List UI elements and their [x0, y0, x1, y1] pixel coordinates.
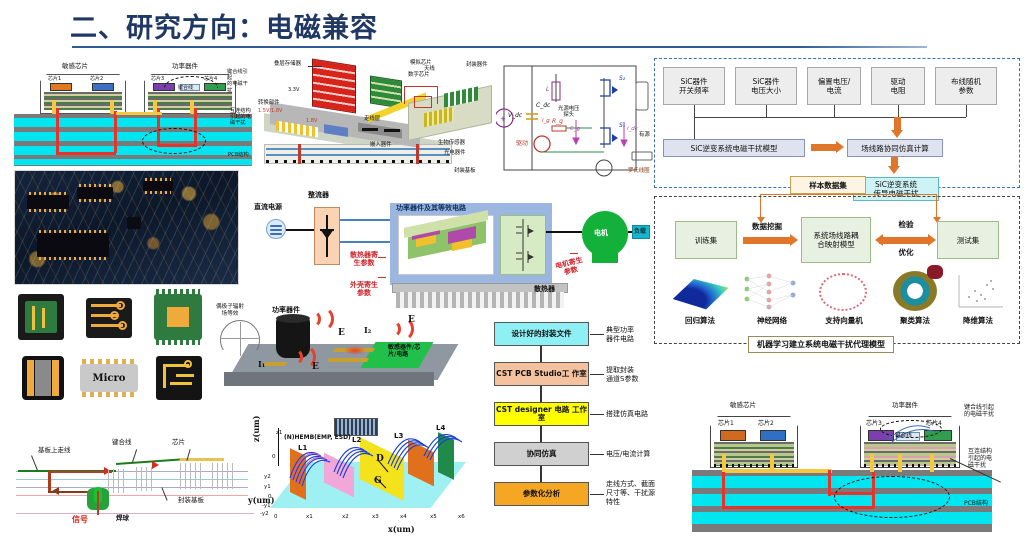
cst-note-1: 提取封装 通道S参数 [606, 366, 638, 384]
sip-label-package-substrate: 封装基板 [454, 168, 476, 174]
schem-label-voltage-probe: 光源电压 探头 [558, 106, 580, 119]
xsec-br-label-interconnect-emi: 互连结构 引起的电 磁干扰 [968, 448, 992, 470]
power-label-heatsink-parasitic: 散热器寄 生参数 [350, 251, 378, 268]
bondwire-label-solder-ball: 焊球 [116, 515, 129, 523]
cst-arrow-3 [540, 466, 542, 482]
emi-dataset-box[interactable]: 样本数据集 [790, 176, 866, 194]
ml-mapping-model[interactable]: 系统场线路耦 合映射模型 [801, 217, 871, 263]
cst-lead-2 [590, 414, 604, 415]
bondwire-label-chip: 芯片 [172, 439, 185, 447]
cst-arrow-2 [540, 426, 542, 442]
radiation-label-dipole: 偶极子辐射 场等效 [216, 304, 244, 317]
sip-label-passive: 封装器件 [466, 62, 488, 68]
plot3d-xtick-0: 0 [274, 514, 278, 521]
cst-lead-1 [590, 374, 604, 375]
emi-arrow-down-result [891, 157, 898, 167]
power-label-motor-parasitic: 电机寄生 参数 [554, 256, 585, 279]
ml-arrow-right-label-bottom: 优化 [883, 247, 929, 258]
cst-step-4[interactable]: 参数化分析 [494, 482, 589, 506]
ml-arrow-right-label-top: 检验 [883, 219, 929, 230]
plot3d-xtick-x1: x1 [306, 514, 313, 521]
ml-algo-label-1: 神经网络 [737, 315, 807, 326]
cst-note-2: 搭建仿真电路 [606, 410, 648, 419]
emi-input-3[interactable]: 驱动 电阻 [871, 67, 925, 105]
plot3d-loop-L1: L1 [298, 444, 307, 452]
xsec-top-label-sensitive-chip: 敏感芯片 [62, 63, 88, 71]
power-label-motor: 电机 [594, 229, 608, 237]
neural-network-thumbnail-icon [739, 271, 805, 311]
clustering-blob-icon [927, 265, 943, 279]
xsec-top-label-chip4: 芯片4 [204, 76, 217, 82]
ml-algo-label-2: 支持向量机 [809, 315, 879, 326]
plot3d-ytick-0: 0 [268, 494, 272, 501]
plot3d-ztick-0: 0 [272, 454, 276, 461]
emi-input-0[interactable]: SiC器件 开关频率 [663, 67, 725, 105]
xsec-top-label-power-device: 功率器件 [172, 63, 198, 71]
top-left-cross-section: 敏感芯片 功率器件 芯片1 芯片2 芯片3 芯片4 键合线 键合线引起 的电磁干… [14, 56, 252, 166]
ml-test-set[interactable]: 测试集 [937, 221, 999, 259]
radiation-label-e3: E [408, 315, 415, 326]
schem-label-drive: 驱动 [516, 140, 528, 147]
sip-label-converter: 转换部件 [258, 100, 280, 106]
emi-bus-line [694, 117, 966, 118]
sip-label-substrate-trace: 走线层 [364, 116, 380, 122]
chip-dip-icon [22, 356, 64, 400]
emi-cosim-box[interactable]: 场线路协同仿真计算 [847, 139, 943, 157]
power-label-power-module: 功率器件及其等效电路 [396, 204, 466, 212]
ml-algo-label-4: 降维算法 [945, 315, 1011, 326]
cst-step-3[interactable]: 协同仿真 [494, 442, 589, 466]
plot3d-xtick-x6: x6 [458, 514, 465, 521]
radiation-label-victim: 敏感器件/芯 片/电路 [388, 344, 420, 358]
cst-step-1[interactable]: CST PCB Studio工 作室 [494, 362, 589, 386]
wirebond-3d-plot: z(um) y(um) x(um) (N)HEMB(EMP, ESD) L1 L… [248, 420, 493, 536]
cst-note-0: 典型功率 器件电路 [606, 326, 634, 344]
sip-label-digital: 数字芯片 [408, 72, 430, 78]
cst-arrow-1 [540, 386, 542, 402]
schem-label-ig: i_g [542, 118, 550, 125]
radiation-label-e2: E [312, 362, 319, 373]
emi-arrow-down-cosim [894, 117, 901, 131]
sip-label-optical: 光电器件 [444, 150, 466, 156]
micro-chip-label: Micro [93, 373, 126, 384]
power-label-heatsink: 散热器 [534, 285, 555, 293]
plot3d-ytick-ny1: -y1 [262, 503, 271, 510]
cst-note-4: 走线方式、截面 尺寸等、干扰源 特性 [606, 480, 655, 506]
xsec-br-label-chip3: 芯片3 [866, 420, 882, 427]
chip-pcb-trace-icon [86, 298, 132, 338]
xsec-top-label-pcb-structure: PCB结构 [228, 152, 249, 158]
plot3d-xtick-x5: x5 [430, 514, 437, 521]
plot3d-port-D: D [376, 454, 384, 465]
emi-input-4[interactable]: 布线随机 参数 [935, 67, 997, 105]
chip-qfp-icon [18, 294, 64, 340]
ml-flow-caption: 机器学习建立系统电磁干扰代理模型 [748, 336, 894, 353]
xsec-top-label-chip2: 芯片2 [90, 76, 103, 82]
plot3d-xtick-x2: x2 [342, 514, 349, 521]
xsec-top-label-interconnect-emi: 互连结构 引起的电 磁干扰 [230, 108, 251, 127]
schem-label-vdc: V_dc [508, 112, 522, 119]
svg-text:+: + [500, 115, 506, 123]
emi-model-flowchart: SiC器件 开关频率 SiC器件 电压大小 偏置电压/ 电流 驱动 电阻 布线随… [654, 58, 1020, 188]
plot3d-loop-L4: L4 [436, 424, 445, 432]
schem-label-rogowski: 罗氏线圈 [628, 168, 650, 174]
bondwire-label-signal: 信号 [72, 515, 88, 525]
schem-label-cdc: C_dc [536, 102, 550, 109]
power-label-load: 负载 [634, 228, 646, 235]
bottom-right-cross-section: 敏感芯片 功率器件 芯片1 芯片2 芯片3 芯片4 键合线 键合线引起 的电磁干… [692, 392, 1022, 534]
schem-label-s1: S₁ [619, 122, 625, 129]
bondwire-label-bond-wire: 键合线 [112, 439, 132, 447]
xsec-br-label-power-device: 功率器件 [892, 402, 918, 410]
emi-arrow-model-to-cosim [811, 144, 837, 151]
sip-label-v3: 1.8V [306, 118, 317, 124]
page-title: 二、研究方向：电磁兼容 [70, 6, 378, 45]
sip-label-memory: 叠层存储器 [274, 61, 301, 67]
chip-icon-grid: Micro [14, 290, 214, 410]
plot3d-axis-z: z(um) [252, 416, 262, 442]
plot3d-xtick-x3: x3 [372, 514, 379, 521]
sip-label-v2: 1.5V/1.8V [258, 108, 282, 114]
bondwire-label-substrate-trace: 基板上走线 [38, 447, 71, 455]
sip-label-embedded: 嵌入器件 [370, 142, 392, 148]
plot3d-ytick-ny2: -y2 [260, 511, 269, 518]
sip-label-antenna: 天线 [424, 66, 435, 72]
power-label-shell-parasitic: 外壳寄生 参数 [350, 281, 378, 298]
sip-package-3d-diagram: 叠层存储器 模拟芯片 数字芯片 天线 封装器件 转换部件 1.5V/1.8V 3… [258, 56, 496, 184]
inverter-schematic: + [496, 56, 656, 186]
plot3d-axis-x: x(um) [388, 525, 415, 535]
ml-arrow-model-to-test [879, 237, 929, 244]
cst-lead-4 [590, 494, 604, 495]
chip-micro-icon: Micro [80, 364, 138, 392]
xsec-br-label-sensitive-chip: 敏感芯片 [730, 402, 756, 410]
dimreduction-thumbnail-icon [955, 273, 1005, 311]
plot3d-xtick-x4: x4 [400, 514, 407, 521]
radiation-label-i2: I₂ [364, 326, 371, 336]
chip-routing-icon [156, 356, 202, 400]
power-label-dc-source: 直流电源 [254, 203, 282, 211]
schem-label-load: 有源 [639, 132, 650, 138]
svm-thumbnail-icon [819, 273, 867, 311]
pcb-photo [14, 170, 239, 285]
radiation-coupling-diagram: 偶极子辐射 场等效 功率器件 敏感器件/芯 片/电路 E E E I₁ I₂ [216, 300, 486, 420]
schem-label-s2: S₂ [619, 75, 625, 82]
slide-root: 二、研究方向：电磁兼容 敏感芯片 [0, 0, 1024, 536]
plot3d-ytick-y1: y1 [264, 484, 271, 491]
cst-step-2[interactable]: CST designer 电路 工作室 [494, 402, 589, 426]
plot3d-annotation: (N)HEMB(EMP, ESD) [284, 434, 351, 441]
title-divider [72, 46, 927, 48]
ml-arrow-train-to-model [743, 237, 791, 244]
schem-label-cg: C_g [570, 126, 580, 133]
cst-lead-0 [590, 334, 604, 335]
cst-simulation-flow: 设计好的封装文件 CST PCB Studio工 作室 CST designer… [494, 322, 694, 534]
power-label-rectifier: 整流器 [308, 191, 329, 199]
schem-label-inductor: L [546, 86, 549, 93]
cst-step-0[interactable]: 设计好的封装文件 [494, 322, 589, 346]
regression-thumbnail-icon [669, 271, 731, 311]
schem-label-rg: R_g [552, 118, 563, 125]
xsec-br-label-chip2: 芯片2 [758, 420, 774, 427]
radiation-label-e1: E [338, 328, 345, 339]
sip-label-biosensor: 生物传感器 [438, 140, 465, 146]
plot3d-loop-L3: L3 [394, 432, 403, 440]
emi-input-2[interactable]: 偏置电压/ 电流 [807, 67, 861, 105]
xsec-br-label-chip1: 芯片1 [718, 420, 734, 427]
ml-algo-label-0: 回归算法 [665, 315, 735, 326]
emi-input-1[interactable]: SiC器件 电压大小 [735, 67, 797, 105]
ml-arrow-left-label: 数据挖掘 [741, 221, 793, 232]
xsec-top-label-bond-wire: 键合线 [178, 85, 193, 91]
cst-note-3: 电压/电流计算 [606, 450, 650, 459]
schem-label-idc: i_dc [627, 126, 638, 133]
xsec-top-label-chip3: 芯片3 [151, 76, 164, 82]
xsec-br-label-bondwire-emi: 键合线引起 的电磁干扰 [964, 404, 994, 418]
power-system-diagram: 直流电源 整流器 功率器件及其等效电路 电机 负载 散热器 散热器寄 生参数 外… [252, 185, 650, 310]
plot3d-ztick-z1: z1 [276, 430, 282, 437]
bondwire-label-package-substrate: 封装基板 [178, 497, 204, 505]
sip-label-v1: 3.3V [288, 87, 299, 93]
xsec-top-label-bondwire-emi: 键合线引起 的电磁干扰 [227, 69, 252, 94]
radiation-label-i1: I₁ [258, 360, 265, 370]
plot3d-loop-L2: L2 [352, 436, 361, 444]
chip-bga-icon [154, 294, 202, 340]
emi-model-box[interactable]: SiC逆变系统电磁干扰模型 [663, 139, 805, 157]
machine-learning-flowchart: 训练集 系统场线路耦 合映射模型 测试集 数据挖掘 检验 优化 [654, 196, 1020, 344]
cst-lead-3 [590, 454, 604, 455]
xsec-br-label-pcb-structure: PCB结构 [964, 500, 988, 507]
cst-arrow-0 [540, 346, 542, 362]
plot3d-port-G: G [374, 476, 382, 487]
ml-algo-label-3: 聚类算法 [883, 315, 947, 326]
xsec-top-label-chip1: 芯片1 [48, 76, 61, 82]
xsec-br-label-bond-wire: 键合线 [895, 433, 912, 440]
bond-wire-cross-section: 基板上走线 键合线 芯片 封装基板 信号 焊球 [12, 425, 257, 535]
xsec-br-label-chip4: 芯片4 [926, 420, 942, 427]
ml-train-set[interactable]: 训练集 [675, 221, 737, 259]
plot3d-ytick-y2: y2 [264, 474, 271, 481]
